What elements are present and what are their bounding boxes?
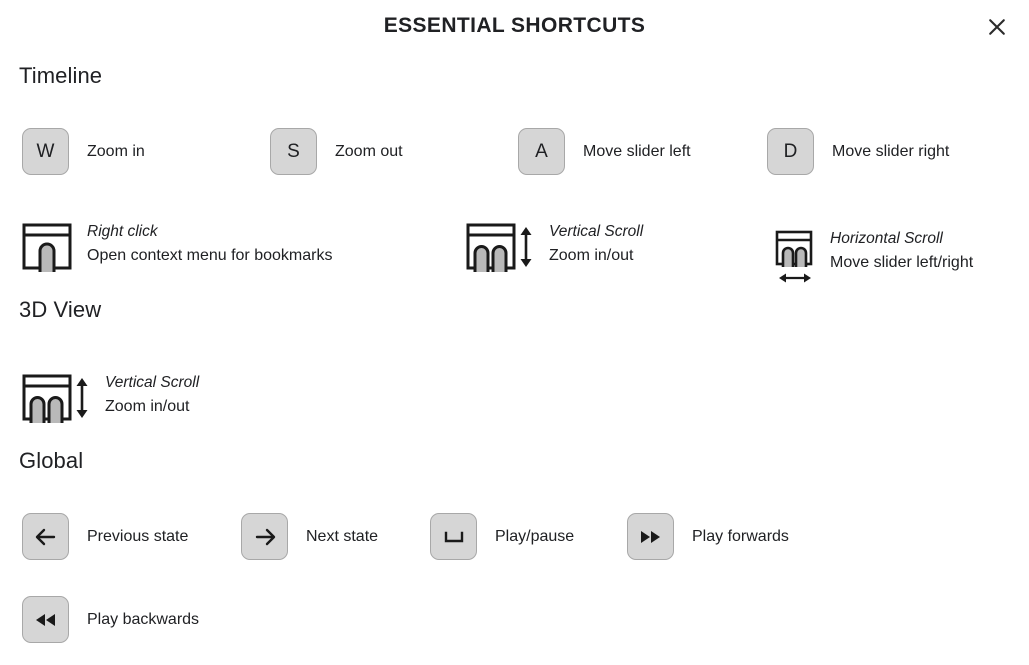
touchpad-vertical-scroll-icon <box>22 373 92 425</box>
fast-forward-icon[interactable] <box>627 513 674 560</box>
shortcut-entry-play-pause[interactable]: Play/pause <box>430 513 574 560</box>
gesture-action: Vertical Scroll <box>549 222 643 242</box>
shortcut-entry-next-state[interactable]: Next state <box>241 513 378 560</box>
spacebar-icon[interactable] <box>430 513 477 560</box>
shortcut-label: Zoom out <box>335 143 403 161</box>
gesture-description: Zoom in/out <box>105 395 199 419</box>
section-title-3dview: 3D View <box>19 297 101 323</box>
section-title-global: Global <box>19 448 83 474</box>
close-button[interactable] <box>979 9 1015 45</box>
arrow-right-icon[interactable] <box>241 513 288 560</box>
shortcut-label: Previous state <box>87 528 188 546</box>
fast-rewind-icon[interactable] <box>22 596 69 643</box>
key-chip-d[interactable]: D <box>767 128 814 175</box>
shortcut-entry-move-slider-left[interactable]: A Move slider left <box>518 128 691 175</box>
touchpad-vertical-scroll-icon <box>466 222 536 274</box>
shortcut-label: Play/pause <box>495 528 574 546</box>
shortcut-label: Move slider left <box>583 143 691 161</box>
gesture-action: Horizontal Scroll <box>830 229 973 249</box>
key-chip-s[interactable]: S <box>270 128 317 175</box>
gesture-action: Vertical Scroll <box>105 373 199 393</box>
shortcut-entry-previous-state[interactable]: Previous state <box>22 513 188 560</box>
touchpad-horizontal-scroll-icon <box>775 229 817 289</box>
gesture-text: Horizontal Scroll Move slider left/right <box>830 229 973 275</box>
shortcut-entry-zoom-in[interactable]: W Zoom in <box>22 128 145 175</box>
shortcut-entry-play-backwards[interactable]: Play backwards <box>22 596 199 643</box>
gesture-entry-right-click: Right click Open context menu for bookma… <box>22 222 332 274</box>
gesture-text: Vertical Scroll Zoom in/out <box>549 222 643 268</box>
shortcut-entry-zoom-out[interactable]: S Zoom out <box>270 128 403 175</box>
shortcut-label: Next state <box>306 528 378 546</box>
section-title-timeline: Timeline <box>19 63 102 89</box>
gesture-entry-vertical-scroll-3dview: Vertical Scroll Zoom in/out <box>22 373 199 425</box>
touchpad-right-click-icon <box>22 222 74 274</box>
dialog-header: ESSENTIAL SHORTCUTS <box>0 0 1029 56</box>
key-chip-a[interactable]: A <box>518 128 565 175</box>
gesture-action: Right click <box>87 222 332 242</box>
gesture-entry-vertical-scroll-timeline: Vertical Scroll Zoom in/out <box>466 222 643 274</box>
arrow-left-icon[interactable] <box>22 513 69 560</box>
gesture-description: Move slider left/right <box>830 251 973 275</box>
gesture-description: Zoom in/out <box>549 244 643 268</box>
shortcuts-dialog: ESSENTIAL SHORTCUTS Timeline W Zoom in S… <box>0 0 1029 665</box>
shortcut-label: Play backwards <box>87 611 199 629</box>
key-chip-w[interactable]: W <box>22 128 69 175</box>
shortcut-label: Play forwards <box>692 528 789 546</box>
gesture-text: Vertical Scroll Zoom in/out <box>105 373 199 419</box>
gesture-entry-horizontal-scroll: Horizontal Scroll Move slider left/right <box>775 229 973 289</box>
shortcut-entry-play-forwards[interactable]: Play forwards <box>627 513 789 560</box>
dialog-title: ESSENTIAL SHORTCUTS <box>0 14 1029 38</box>
shortcut-label: Move slider right <box>832 143 949 161</box>
close-x-icon <box>987 17 1007 37</box>
shortcut-entry-move-slider-right[interactable]: D Move slider right <box>767 128 949 175</box>
gesture-text: Right click Open context menu for bookma… <box>87 222 332 268</box>
gesture-description: Open context menu for bookmarks <box>87 244 332 268</box>
shortcut-label: Zoom in <box>87 143 145 161</box>
